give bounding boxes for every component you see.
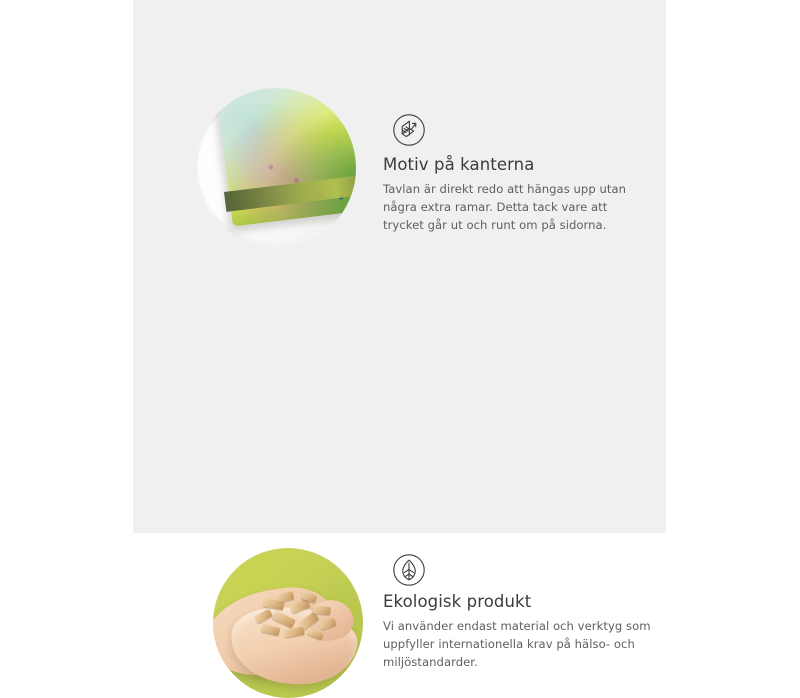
wood-chips-photo: [213, 548, 363, 698]
feature-eko-text: Ekologisk produkt Vi använder endast mat…: [383, 592, 651, 672]
feature-motiv-text: Motiv på kanterna Tavlan är direkt redo …: [383, 155, 651, 235]
leaf-icon: [389, 550, 429, 590]
feature-title: Motiv på kanterna: [383, 155, 651, 175]
feature-title: Ekologisk produkt: [383, 592, 651, 612]
product-feature-banner: Motiv på kanterna Tavlan är direkt redo …: [0, 0, 800, 533]
wood-chip-pile: [251, 589, 340, 647]
feature-motiv-pa-kanterna: Motiv på kanterna Tavlan är direkt redo …: [0, 0, 800, 260]
feature-description: Vi använder endast material och verktyg …: [383, 618, 651, 672]
feature-description: Tavlan är direkt redo att hängas upp uta…: [383, 181, 651, 235]
canvas-edge-wrap-icon: [389, 110, 429, 150]
canvas-print-photo: [196, 88, 356, 248]
feature-ekologisk-produkt: Ekologisk produkt Vi använder endast mat…: [0, 260, 800, 533]
